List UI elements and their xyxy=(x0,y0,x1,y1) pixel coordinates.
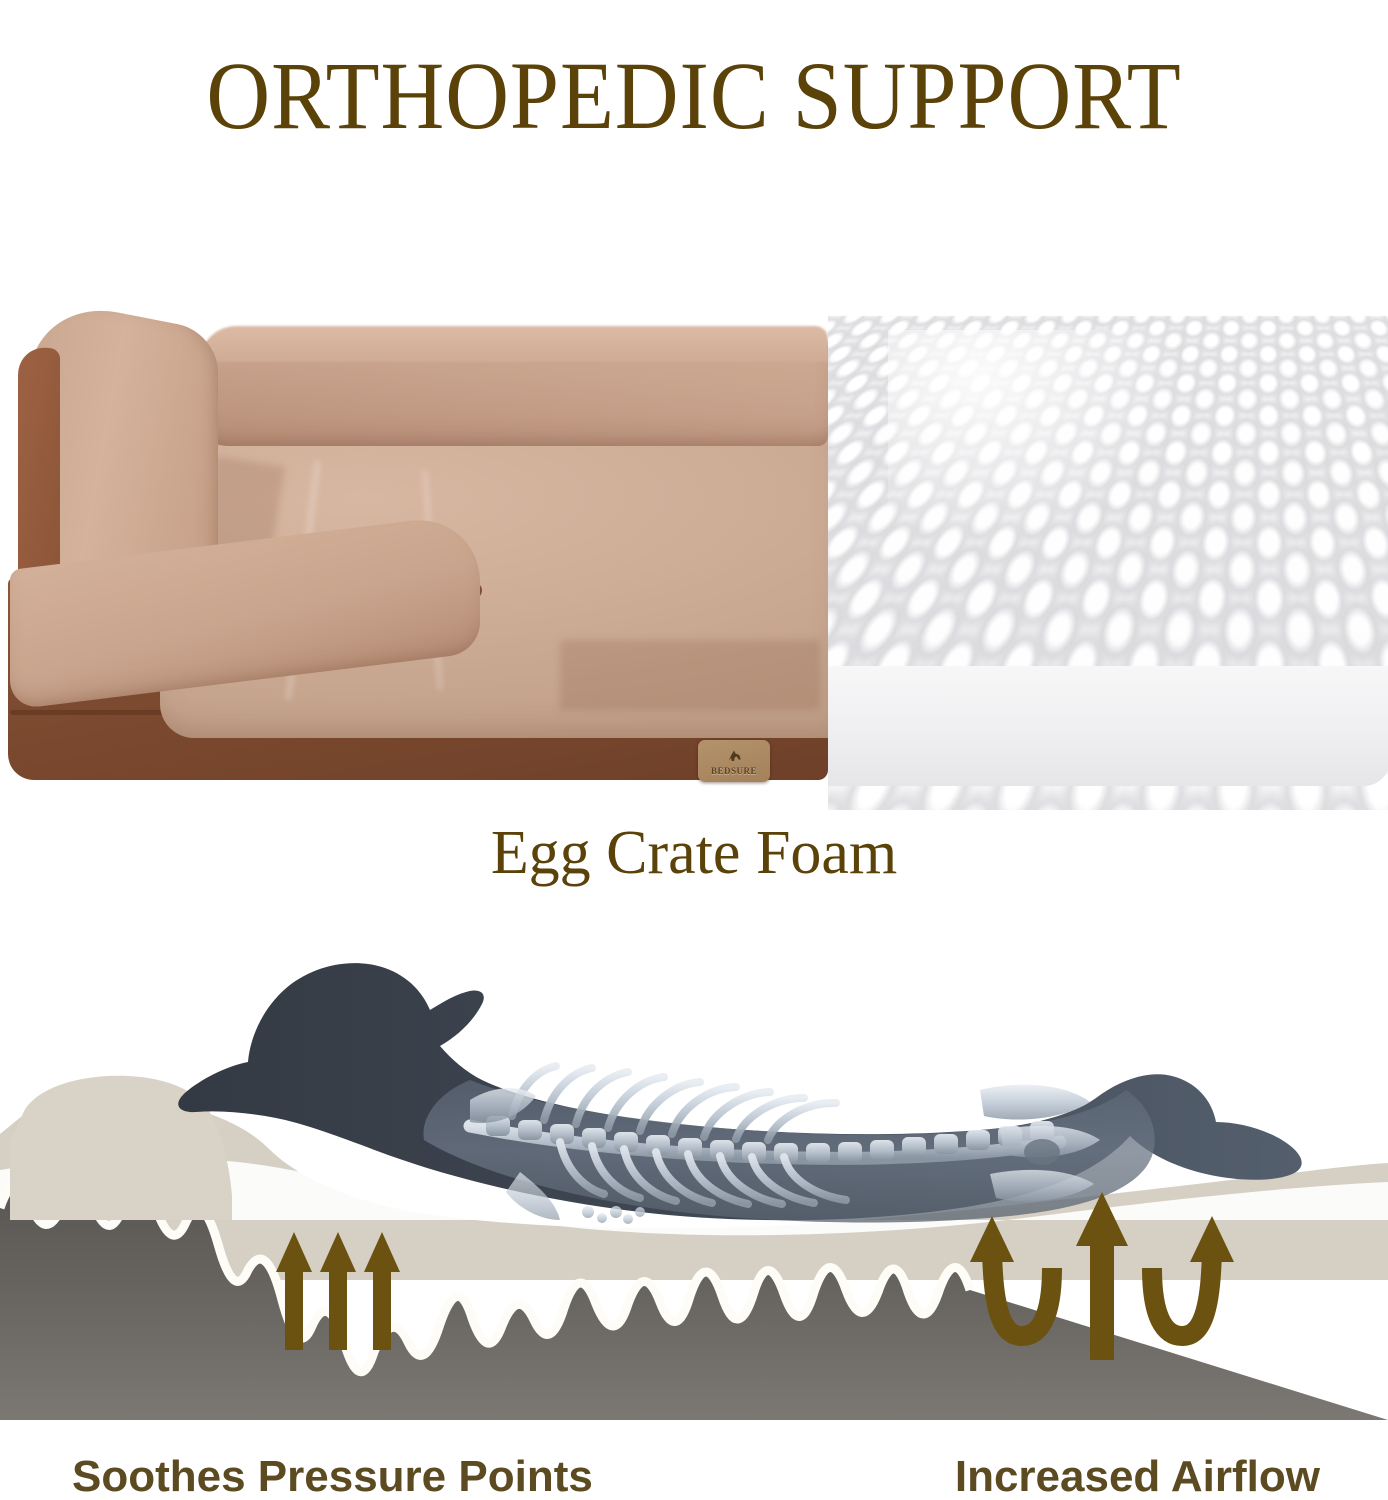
egg-crate-foam-caption: Egg Crate Foam xyxy=(0,818,1388,889)
mattress-shadow xyxy=(560,640,820,710)
foam-front-edge xyxy=(828,666,1388,786)
infographic-page: ORTHOPEDIC SUPPORT xyxy=(0,0,1388,1500)
bed-back-bolster-highlight xyxy=(200,326,828,362)
pressure-arrows xyxy=(276,1232,400,1350)
brand-tag-label: BEDSURE xyxy=(711,767,757,776)
dog-icon xyxy=(725,748,743,765)
caption-increased-airflow: Increased Airflow xyxy=(955,1452,1320,1500)
dog-bed-photo xyxy=(0,310,828,810)
egg-crate-foam-photo xyxy=(828,310,1388,810)
brand-tag: BEDSURE xyxy=(698,740,770,782)
caption-soothes-pressure-points: Soothes Pressure Points xyxy=(72,1452,593,1500)
page-title: ORTHOPEDIC SUPPORT xyxy=(56,48,1333,144)
cross-section-diagram xyxy=(0,920,1388,1430)
product-image-panel xyxy=(0,310,1388,810)
bottom-caption-row: Soothes Pressure Points Increased Airflo… xyxy=(0,1452,1388,1500)
